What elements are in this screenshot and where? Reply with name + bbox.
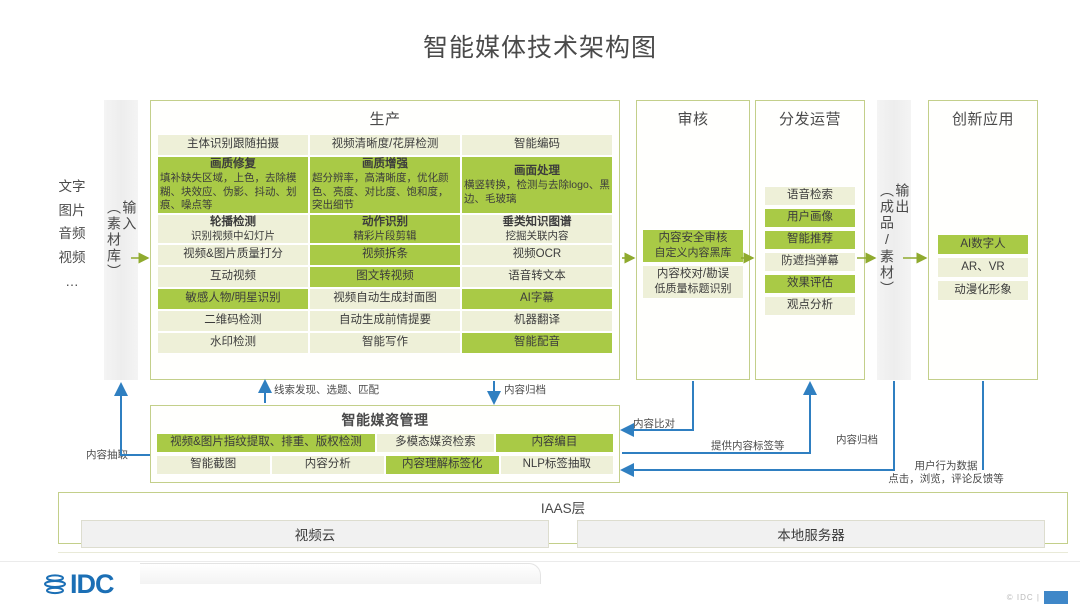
innovation-panel: 创新应用 AI数字人AR、VR动漫化形象	[928, 100, 1038, 380]
mam-item[interactable]: 内容分析	[271, 455, 386, 475]
feature-cell[interactable]: 画质增强超分辨率，高清晰度，优化颜色、亮度、对比度、饱和度，突出细节	[309, 156, 461, 214]
review-title: 审核	[637, 101, 749, 134]
feature-cell[interactable]: 视频OCR	[461, 244, 613, 266]
distribution-item[interactable]: 观点分析	[764, 296, 856, 316]
feature-cell-title: 敏感人物/明星识别	[185, 291, 280, 306]
idc-globe-icon	[42, 572, 68, 598]
feature-cell[interactable]: 二维码检测	[157, 310, 309, 332]
diagram-canvas: 智能媒体技术架构图 文字图片音频视频… 输入（素材库） 生产 主体识别跟随拍摄视…	[0, 0, 1080, 608]
feature-cell[interactable]: 互动视频	[157, 266, 309, 288]
feature-cell[interactable]: 视频&图片质量打分	[157, 244, 309, 266]
review-item[interactable]: 内容安全审核自定义内容黑库	[642, 229, 744, 263]
feature-cell-title: 画面处理	[514, 164, 560, 179]
feature-cell[interactable]: 主体识别跟随拍摄	[157, 134, 309, 156]
feature-cell[interactable]: 智能编码	[461, 134, 613, 156]
output-bar-label: 输出（成品/素材）	[879, 183, 910, 297]
mam-row-1: 视频&图片指纹提取、排重、版权检测多模态媒资检索内容编目	[151, 433, 619, 453]
iaas-box[interactable]: 本地服务器	[577, 520, 1045, 548]
mam-item[interactable]: 内容编目	[495, 433, 614, 453]
feature-cell-title: 语音转文本	[508, 269, 566, 284]
feature-cell-title: 智能编码	[514, 137, 560, 152]
mam-row-2: 智能截图内容分析内容理解标签化NLP标签抽取	[151, 453, 619, 475]
production-row: 轮播检测识别视频中幻灯片动作识别精彩片段剪辑垂类知识图谱挖掘关联内容	[157, 214, 613, 244]
distribution-list: 语音检索用户画像智能推荐防遮挡弹幕效果评估观点分析	[756, 186, 864, 316]
feature-cell-desc: 超分辨率，高清晰度，优化颜色、亮度、对比度、饱和度，突出细节	[312, 172, 458, 213]
feature-cell[interactable]: 视频清晰度/花屏检测	[309, 134, 461, 156]
innovation-item[interactable]: 动漫化形象	[937, 280, 1029, 301]
iaas-title: IAAS层	[59, 493, 1067, 517]
idc-logo: IDC	[42, 569, 114, 600]
feature-cell-title: 二维码检测	[204, 313, 262, 328]
feature-cell-title: 视频自动生成封面图	[333, 291, 437, 306]
mam-item[interactable]: 智能截图	[156, 455, 271, 475]
feature-cell-title: AI数字人	[960, 237, 1005, 252]
feature-cell-title: NLP标签抽取	[523, 457, 591, 472]
feature-cell-title: 内容安全审核	[659, 231, 728, 246]
production-row: 敏感人物/明星识别视频自动生成封面图AI字幕	[157, 288, 613, 310]
feature-cell[interactable]: 水印检测	[157, 332, 309, 354]
feature-cell-title: 自动生成前情提要	[339, 313, 431, 328]
feature-cell[interactable]: 画面处理横竖转换，检测与去除logo、黑边、毛玻璃	[461, 156, 613, 214]
feature-cell-title: 主体识别跟随拍摄	[187, 137, 279, 152]
distribution-item[interactable]: 智能推荐	[764, 230, 856, 250]
input-sources-list: 文字图片音频视频…	[42, 175, 102, 293]
feature-cell-title: 语音检索	[787, 188, 833, 203]
label-clue: 线索发现、选题、匹配	[274, 384, 379, 398]
feature-cell-title: 互动视频	[210, 269, 256, 284]
feature-cell[interactable]: 动作识别精彩片段剪辑	[309, 214, 461, 244]
feature-cell-title: 智能配音	[514, 335, 560, 350]
feature-cell-title: 画质修复	[210, 157, 256, 172]
feature-cell-title: 智能推荐	[787, 232, 833, 247]
feature-cell-title: 内容校对/勘误	[657, 267, 729, 282]
distribution-item[interactable]: 效果评估	[764, 274, 856, 294]
divider	[58, 552, 1068, 553]
iaas-boxes: 视频云本地服务器	[59, 517, 1067, 548]
feature-cell[interactable]: 视频自动生成封面图	[309, 288, 461, 310]
production-row: 视频&图片质量打分视频拆条视频OCR	[157, 244, 613, 266]
feature-cell-title: 智能写作	[362, 335, 408, 350]
review-item-desc: 低质量标题识别	[655, 282, 732, 296]
label-behavior-2: 点击，浏览，评论反馈等	[846, 473, 1046, 487]
feature-cell[interactable]: 视频拆条	[309, 244, 461, 266]
mam-title: 智能媒资管理	[151, 406, 619, 433]
production-title: 生产	[151, 101, 619, 134]
review-panel: 审核 内容安全审核自定义内容黑库内容校对/勘误低质量标题识别	[636, 100, 750, 380]
production-row: 互动视频图文转视频语音转文本	[157, 266, 613, 288]
label-compare: 内容比对	[633, 418, 675, 432]
feature-cell-title: 轮播检测	[210, 215, 256, 230]
mam-item[interactable]: NLP标签抽取	[500, 455, 615, 475]
review-list: 内容安全审核自定义内容黑库内容校对/勘误低质量标题识别	[637, 229, 749, 299]
feature-cell-title: 多模态媒资检索	[395, 435, 476, 450]
feature-cell[interactable]: 画质修复填补缺失区域，上色，去除模糊、块效应、伪影、抖动、划痕、噪点等	[157, 156, 309, 214]
feature-cell-title: 视频&图片指纹提取、排重、版权检测	[170, 435, 362, 450]
feature-cell-title: 内容分析	[305, 457, 351, 472]
distribution-panel: 分发运营 语音检索用户画像智能推荐防遮挡弹幕效果评估观点分析	[755, 100, 865, 380]
feature-cell-title: 视频清晰度/花屏检测	[332, 137, 439, 152]
feature-cell-title: 防遮挡弹幕	[781, 254, 839, 269]
iaas-box[interactable]: 视频云	[81, 520, 549, 548]
distribution-item[interactable]: 用户画像	[764, 208, 856, 228]
label-behavior-1: 用户行为数据	[846, 460, 1046, 474]
feature-cell[interactable]: 机器翻译	[461, 310, 613, 332]
feature-cell-title: 水印检测	[210, 335, 256, 350]
mam-item[interactable]: 多模态媒资检索	[376, 433, 495, 453]
feature-cell-title: 内容理解标签化	[402, 457, 483, 472]
feature-cell-title: 动作识别	[362, 215, 408, 230]
label-archive-mid: 内容归档	[504, 384, 546, 398]
feature-cell-title: 智能截图	[190, 457, 236, 472]
label-archive-right: 内容归档	[836, 434, 878, 448]
review-item[interactable]: 内容校对/勘误低质量标题识别	[642, 265, 744, 299]
production-row: 主体识别跟随拍摄视频清晰度/花屏检测智能编码	[157, 134, 613, 156]
mam-panel: 智能媒资管理 视频&图片指纹提取、排重、版权检测多模态媒资检索内容编目 智能截图…	[150, 405, 620, 483]
feature-cell-desc: 识别视频中幻灯片	[160, 230, 306, 244]
mam-item[interactable]: 视频&图片指纹提取、排重、版权检测	[156, 433, 376, 453]
input-bar: 输入（素材库）	[104, 100, 138, 380]
feature-cell[interactable]: 敏感人物/明星识别	[157, 288, 309, 310]
iaas-panel: IAAS层 视频云本地服务器	[58, 492, 1068, 544]
footer-tab	[140, 563, 541, 584]
distribution-title: 分发运营	[756, 101, 864, 134]
innovation-item[interactable]: AR、VR	[937, 257, 1029, 278]
distribution-item[interactable]: 语音检索	[764, 186, 856, 206]
label-extract: 内容抽取	[86, 449, 128, 463]
feature-cell-title: 视频OCR	[513, 247, 562, 262]
feature-cell-desc: 精彩片段剪辑	[312, 230, 458, 244]
feature-cell-title: 画质增强	[362, 157, 408, 172]
label-tags: 提供内容标签等	[711, 440, 785, 454]
production-row: 二维码检测自动生成前情提要机器翻译	[157, 310, 613, 332]
feature-cell[interactable]: AI字幕	[461, 288, 613, 310]
innovation-title: 创新应用	[929, 101, 1037, 134]
feature-cell-title: 视频&图片质量打分	[183, 247, 283, 262]
feature-cell[interactable]: 轮播检测识别视频中幻灯片	[157, 214, 309, 244]
production-grid: 主体识别跟随拍摄视频清晰度/花屏检测智能编码画质修复填补缺失区域，上色，去除模糊…	[151, 134, 619, 360]
copyright-text: © IDC |	[1007, 593, 1040, 602]
innovation-list: AI数字人AR、VR动漫化形象	[929, 234, 1037, 301]
feature-cell-desc: 挖掘关联内容	[464, 230, 610, 244]
feature-cell[interactable]: 自动生成前情提要	[309, 310, 461, 332]
production-panel: 生产 主体识别跟随拍摄视频清晰度/花屏检测智能编码画质修复填补缺失区域，上色，去…	[150, 100, 620, 380]
feature-cell-title: AI字幕	[520, 291, 554, 306]
page-title: 智能媒体技术架构图	[0, 28, 1080, 64]
feature-cell-title: 效果评估	[787, 276, 833, 291]
feature-cell[interactable]: 垂类知识图谱挖掘关联内容	[461, 214, 613, 244]
mam-item[interactable]: 内容理解标签化	[385, 455, 500, 475]
innovation-item[interactable]: AI数字人	[937, 234, 1029, 255]
footer-accent-block	[1044, 591, 1068, 604]
feature-cell-title: 机器翻译	[514, 313, 560, 328]
feature-cell-title: 垂类知识图谱	[502, 215, 571, 230]
output-bar: 输出（成品/素材）	[877, 100, 911, 380]
feature-cell[interactable]: 图文转视频	[309, 266, 461, 288]
feature-cell[interactable]: 语音转文本	[461, 266, 613, 288]
feature-cell-title: 动漫化形象	[954, 283, 1012, 298]
production-row: 画质修复填补缺失区域，上色，去除模糊、块效应、伪影、抖动、划痕、噪点等画质增强超…	[157, 156, 613, 214]
feature-cell-desc: 横竖转换，检测与去除logo、黑边、毛玻璃	[464, 179, 610, 206]
feature-cell-title: 视频拆条	[362, 247, 408, 262]
production-row: 水印检测智能写作智能配音	[157, 332, 613, 354]
feature-cell-desc: 填补缺失区域，上色，去除模糊、块效应、伪影、抖动、划痕、噪点等	[160, 172, 306, 213]
feature-cell-title: 观点分析	[787, 298, 833, 313]
feature-cell[interactable]: 智能配音	[461, 332, 613, 354]
distribution-item[interactable]: 防遮挡弹幕	[764, 252, 856, 272]
feature-cell-title: 图文转视频	[356, 269, 414, 284]
feature-cell-title: AR、VR	[961, 260, 1004, 275]
feature-cell[interactable]: 智能写作	[309, 332, 461, 354]
feature-cell-title: 用户画像	[787, 210, 833, 225]
input-bar-label: 输入（素材库）	[106, 200, 137, 280]
idc-wordmark: IDC	[70, 569, 114, 600]
feature-cell-title: 内容编目	[531, 435, 577, 450]
review-item-desc: 自定义内容黑库	[655, 246, 732, 260]
